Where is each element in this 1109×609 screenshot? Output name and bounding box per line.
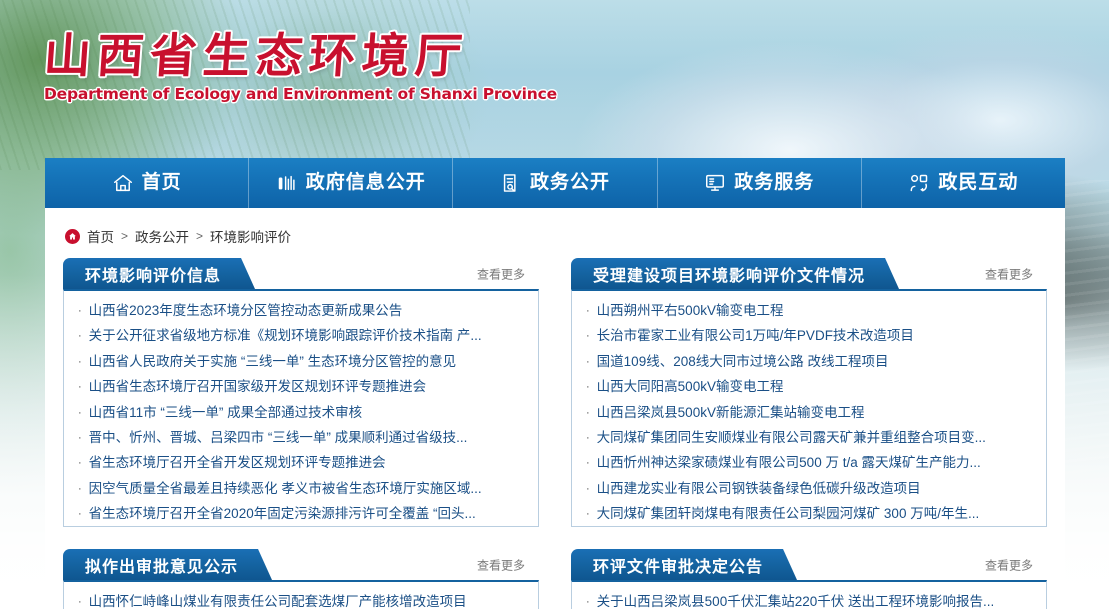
list-item[interactable]: ·山西吕梁岚县500kV新能源汇集站输变电工程 xyxy=(586,401,1032,426)
bullet-icon: · xyxy=(78,407,82,419)
list-item-text: 山西大同阳高500kV输变电工程 xyxy=(597,375,784,395)
breadcrumb-item-2[interactable]: 环境影响评价 xyxy=(210,226,291,246)
list-item[interactable]: ·山西忻州神达梁家碛煤业有限公司500 万 t/a 露天煤矿生产能力... xyxy=(586,451,1032,476)
bullet-icon: · xyxy=(586,305,590,317)
list-item[interactable]: ·山西朔州平右500kV输变电工程 xyxy=(586,299,1032,324)
list-item-text: 山西省2023年度生态环境分区管控动态更新成果公告 xyxy=(89,299,403,319)
bullet-icon: · xyxy=(586,381,590,393)
bar-chart-icon xyxy=(276,172,298,194)
nav-label-government-info: 政府信息公开 xyxy=(306,173,426,193)
interaction-icon xyxy=(908,172,930,194)
list-item-text: 大同煤矿集团轩岗煤电有限责任公司梨园河煤矿 300 万吨/年生... xyxy=(597,502,980,522)
list-item-text: 长治市霍家工业有限公司1万吨/年PVDF技术改造项目 xyxy=(597,324,914,344)
bullet-icon: · xyxy=(78,457,82,469)
home-badge-icon xyxy=(65,229,80,244)
nav-label-affairs-disclosure: 政务公开 xyxy=(530,173,610,193)
bullet-icon: · xyxy=(78,305,82,317)
list-item-text: 山西省11市 “三线一单” 成果全部通过技术审核 xyxy=(89,401,363,421)
list-item[interactable]: ·大同煤矿集团轩岗煤电有限责任公司梨园河煤矿 300 万吨/年生... xyxy=(586,502,1032,527)
panel-accepted-eia-documents: 受理建设项目环境影响评价文件情况 查看更多 ·山西朔州平右500kV输变电工程 … xyxy=(571,258,1047,527)
document-search-icon xyxy=(500,172,522,194)
list-item-text: 山西省人民政府关于实施 “三线一单” 生态环境分区管控的意见 xyxy=(89,350,457,370)
list-item[interactable]: ·山西省11市 “三线一单” 成果全部通过技术审核 xyxy=(78,401,524,426)
nav-item-government-info[interactable]: 政府信息公开 xyxy=(249,158,453,208)
main-navigation: 首页 政府信息公开 政务公开 xyxy=(45,158,1065,208)
list-item[interactable]: ·省生态环境厅召开全省2020年固定污染源排污许可全覆盖 “回头... xyxy=(78,502,524,527)
panel-list: ·山西省2023年度生态环境分区管控动态更新成果公告 ·关于公开征求省级地方标准… xyxy=(63,289,539,527)
content-area: 首页 > 政务公开 > 环境影响评价 环境影响评价信息 查看更多 ·山西省202… xyxy=(45,208,1065,609)
breadcrumb-item-0[interactable]: 首页 xyxy=(87,226,114,246)
page-root: 山西省生态环境厅 Department of Ecology and Envir… xyxy=(0,0,1109,609)
list-item[interactable]: ·山西省2023年度生态环境分区管控动态更新成果公告 xyxy=(78,299,524,324)
panel-title-tab[interactable]: 环境影响评价信息 xyxy=(63,258,255,289)
list-item-text: 山西朔州平右500kV输变电工程 xyxy=(597,299,784,319)
bullet-icon: · xyxy=(586,508,590,520)
panel-more-link[interactable]: 查看更多 xyxy=(477,265,525,282)
home-icon xyxy=(112,172,134,194)
bullet-icon: · xyxy=(586,407,590,419)
panel-more-link[interactable]: 查看更多 xyxy=(985,556,1033,573)
nav-label-interaction: 政民互动 xyxy=(938,173,1018,193)
panel-header: 环评文件审批决定公告 查看更多 xyxy=(571,549,1047,580)
nav-item-affairs-service[interactable]: 政务服务 xyxy=(658,158,862,208)
list-item[interactable]: ·国道109线、208线大同市过境公路 改线工程项目 xyxy=(586,350,1032,375)
site-title-block: 山西省生态环境厅 Department of Ecology and Envir… xyxy=(44,32,464,103)
list-item[interactable]: ·因空气质量全省最差且持续恶化 孝义市被省生态环境厅实施区域... xyxy=(78,477,524,502)
panel-title-tab[interactable]: 环评文件审批决定公告 xyxy=(571,549,797,580)
bullet-icon: · xyxy=(586,356,590,368)
panel-title-tab[interactable]: 受理建设项目环境影响评价文件情况 xyxy=(571,258,899,289)
panel-list: ·山西怀仁峙峰山煤业有限责任公司配套选煤厂产能核增改造项目 xyxy=(63,580,539,609)
panel-header: 环境影响评价信息 查看更多 xyxy=(63,258,539,289)
panel-title-tab[interactable]: 拟作出审批意见公示 xyxy=(63,549,272,580)
site-title-english: Department of Ecology and Environment of… xyxy=(44,85,464,103)
list-item[interactable]: ·山西省生态环境厅召开国家级开发区规划环评专题推进会 xyxy=(78,375,524,400)
list-item-text: 因空气质量全省最差且持续恶化 孝义市被省生态环境厅实施区域... xyxy=(89,477,482,497)
bullet-icon: · xyxy=(78,508,82,520)
nav-item-home[interactable]: 首页 xyxy=(45,158,249,208)
list-item-text: 省生态环境厅召开全省2020年固定污染源排污许可全覆盖 “回头... xyxy=(89,502,476,522)
breadcrumb-separator-1: > xyxy=(196,229,203,243)
list-item-text: 山西忻州神达梁家碛煤业有限公司500 万 t/a 露天煤矿生产能力... xyxy=(597,451,981,471)
nav-label-affairs-service: 政务服务 xyxy=(734,173,814,193)
list-item-text: 山西省生态环境厅召开国家级开发区规划环评专题推进会 xyxy=(89,375,427,395)
list-item[interactable]: ·山西建龙实业有限公司钢铁装备绿色低碳升级改造项目 xyxy=(586,477,1032,502)
bullet-icon: · xyxy=(586,483,590,495)
list-item[interactable]: ·长治市霍家工业有限公司1万吨/年PVDF技术改造项目 xyxy=(586,324,1032,349)
bullet-icon: · xyxy=(586,330,590,342)
list-item[interactable]: ·大同煤矿集团同生安顺煤业有限公司露天矿兼并重组整合项目变... xyxy=(586,426,1032,451)
panel-draft-approval-opinion: 拟作出审批意见公示 查看更多 ·山西怀仁峙峰山煤业有限责任公司配套选煤厂产能核增… xyxy=(63,549,539,609)
bullet-icon: · xyxy=(586,432,590,444)
panel-approval-decision-announcement: 环评文件审批决定公告 查看更多 ·关于山西吕梁岚县500千伏汇集站220千伏 送… xyxy=(571,549,1047,609)
list-item-text: 关于山西吕梁岚县500千伏汇集站220千伏 送出工程环境影响报告... xyxy=(597,590,995,609)
bullet-icon: · xyxy=(78,483,82,495)
list-item-text: 晋中、忻州、晋城、吕梁四市 “三线一单” 成果顺利通过省级技... xyxy=(89,426,468,446)
panel-header: 拟作出审批意见公示 查看更多 xyxy=(63,549,539,580)
list-item[interactable]: ·关于山西吕梁岚县500千伏汇集站220千伏 送出工程环境影响报告... xyxy=(586,590,1032,609)
list-item-text: 山西建龙实业有限公司钢铁装备绿色低碳升级改造项目 xyxy=(597,477,921,497)
list-item[interactable]: ·省生态环境厅召开全省开发区规划环评专题推进会 xyxy=(78,451,524,476)
panel-list: ·关于山西吕梁岚县500千伏汇集站220千伏 送出工程环境影响报告... xyxy=(571,580,1047,609)
list-item[interactable]: ·山西大同阳高500kV输变电工程 xyxy=(586,375,1032,400)
list-item-text: 山西怀仁峙峰山煤业有限责任公司配套选煤厂产能核增改造项目 xyxy=(89,590,467,609)
list-item[interactable]: ·关于公开征求省级地方标准《规划环境影响跟踪评价技术指南 产... xyxy=(78,324,524,349)
list-item-text: 国道109线、208线大同市过境公路 改线工程项目 xyxy=(597,350,889,370)
list-item-text: 关于公开征求省级地方标准《规划环境影响跟踪评价技术指南 产... xyxy=(89,324,482,344)
site-title-chinese: 山西省生态环境厅 xyxy=(42,32,465,81)
bullet-icon: · xyxy=(586,596,590,608)
breadcrumb-item-1[interactable]: 政务公开 xyxy=(135,226,189,246)
bullet-icon: · xyxy=(586,457,590,469)
panel-list: ·山西朔州平右500kV输变电工程 ·长治市霍家工业有限公司1万吨/年PVDF技… xyxy=(571,289,1047,527)
breadcrumb: 首页 > 政务公开 > 环境影响评价 xyxy=(45,208,1065,246)
nav-label-home: 首页 xyxy=(142,173,182,193)
monitor-icon xyxy=(704,172,726,194)
breadcrumb-separator-0: > xyxy=(121,229,128,243)
list-item[interactable]: ·山西怀仁峙峰山煤业有限责任公司配套选煤厂产能核增改造项目 xyxy=(78,590,524,609)
bullet-icon: · xyxy=(78,330,82,342)
bullet-icon: · xyxy=(78,356,82,368)
list-item[interactable]: ·晋中、忻州、晋城、吕梁四市 “三线一单” 成果顺利通过省级技... xyxy=(78,426,524,451)
bullet-icon: · xyxy=(78,381,82,393)
bullet-icon: · xyxy=(78,596,82,608)
nav-item-interaction[interactable]: 政民互动 xyxy=(862,158,1065,208)
panels-grid: 环境影响评价信息 查看更多 ·山西省2023年度生态环境分区管控动态更新成果公告… xyxy=(63,258,1047,609)
list-item-text: 省生态环境厅召开全省开发区规划环评专题推进会 xyxy=(89,451,386,471)
list-item-text: 大同煤矿集团同生安顺煤业有限公司露天矿兼并重组整合项目变... xyxy=(597,426,986,446)
panel-eia-information: 环境影响评价信息 查看更多 ·山西省2023年度生态环境分区管控动态更新成果公告… xyxy=(63,258,539,527)
panel-header: 受理建设项目环境影响评价文件情况 查看更多 xyxy=(571,258,1047,289)
nav-item-affairs-disclosure[interactable]: 政务公开 xyxy=(453,158,657,208)
list-item[interactable]: ·山西省人民政府关于实施 “三线一单” 生态环境分区管控的意见 xyxy=(78,350,524,375)
panel-more-link[interactable]: 查看更多 xyxy=(985,265,1033,282)
bullet-icon: · xyxy=(78,432,82,444)
list-item-text: 山西吕梁岚县500kV新能源汇集站输变电工程 xyxy=(597,401,865,421)
panel-more-link[interactable]: 查看更多 xyxy=(477,556,525,573)
